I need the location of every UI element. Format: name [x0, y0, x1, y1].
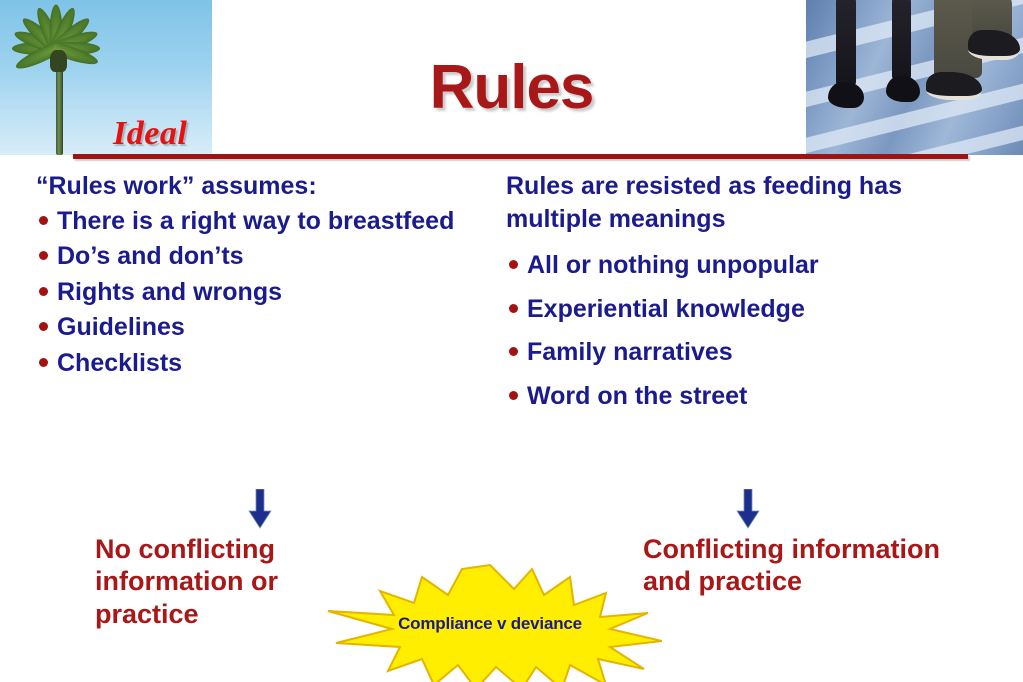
list-item-label: Family narratives [527, 336, 733, 369]
list-item: Family narratives [506, 336, 996, 369]
bullet-dot-icon [39, 322, 48, 331]
list-item-label: All or nothing unpopular [527, 249, 819, 282]
list-item: Do’s and don’ts [36, 240, 496, 273]
list-item-label: Checklists [57, 347, 182, 380]
bullet-dot-icon [509, 347, 518, 356]
bullet-dot-icon [39, 287, 48, 296]
title-divider [73, 154, 968, 159]
list-item-label: Rights and wrongs [57, 276, 282, 309]
slide-canvas: Ideal Reality Rules “Rules work” assumes… [0, 0, 1023, 682]
left-column-heading: “Rules work” assumes: [36, 170, 496, 203]
down-arrow-icon [736, 489, 760, 529]
list-item-label: Guidelines [57, 311, 185, 344]
right-column: Rules are resisted as feeding has multip… [506, 170, 996, 423]
left-column: “Rules work” assumes: There is a right w… [36, 170, 496, 382]
bullet-dot-icon [509, 260, 518, 269]
bullet-dot-icon [509, 304, 518, 313]
bullet-dot-icon [39, 358, 48, 367]
starburst-shape [318, 563, 662, 682]
list-item: All or nothing unpopular [506, 249, 996, 282]
bullet-dot-icon [509, 391, 518, 400]
bullet-dot-icon [39, 251, 48, 260]
down-arrow-icon [248, 489, 272, 529]
list-item: There is a right way to breastfeed [36, 205, 496, 238]
list-item: Guidelines [36, 311, 496, 344]
page-title: Rules [0, 52, 1023, 123]
list-item-label: There is a right way to breastfeed [57, 205, 454, 238]
list-item: Checklists [36, 347, 496, 380]
list-item: Word on the street [506, 380, 996, 413]
left-conclusion-text: No conflicting information or practice [95, 533, 355, 630]
list-item-label: Experiential knowledge [527, 293, 805, 326]
list-item: Rights and wrongs [36, 276, 496, 309]
right-column-heading: Rules are resisted as feeding has multip… [506, 170, 996, 235]
bullet-dot-icon [39, 216, 48, 225]
list-item-label: Word on the street [527, 380, 747, 413]
list-item: Experiential knowledge [506, 293, 996, 326]
list-item-label: Do’s and don’ts [57, 240, 244, 273]
right-conclusion-text: Conflicting information and practice [643, 533, 943, 598]
